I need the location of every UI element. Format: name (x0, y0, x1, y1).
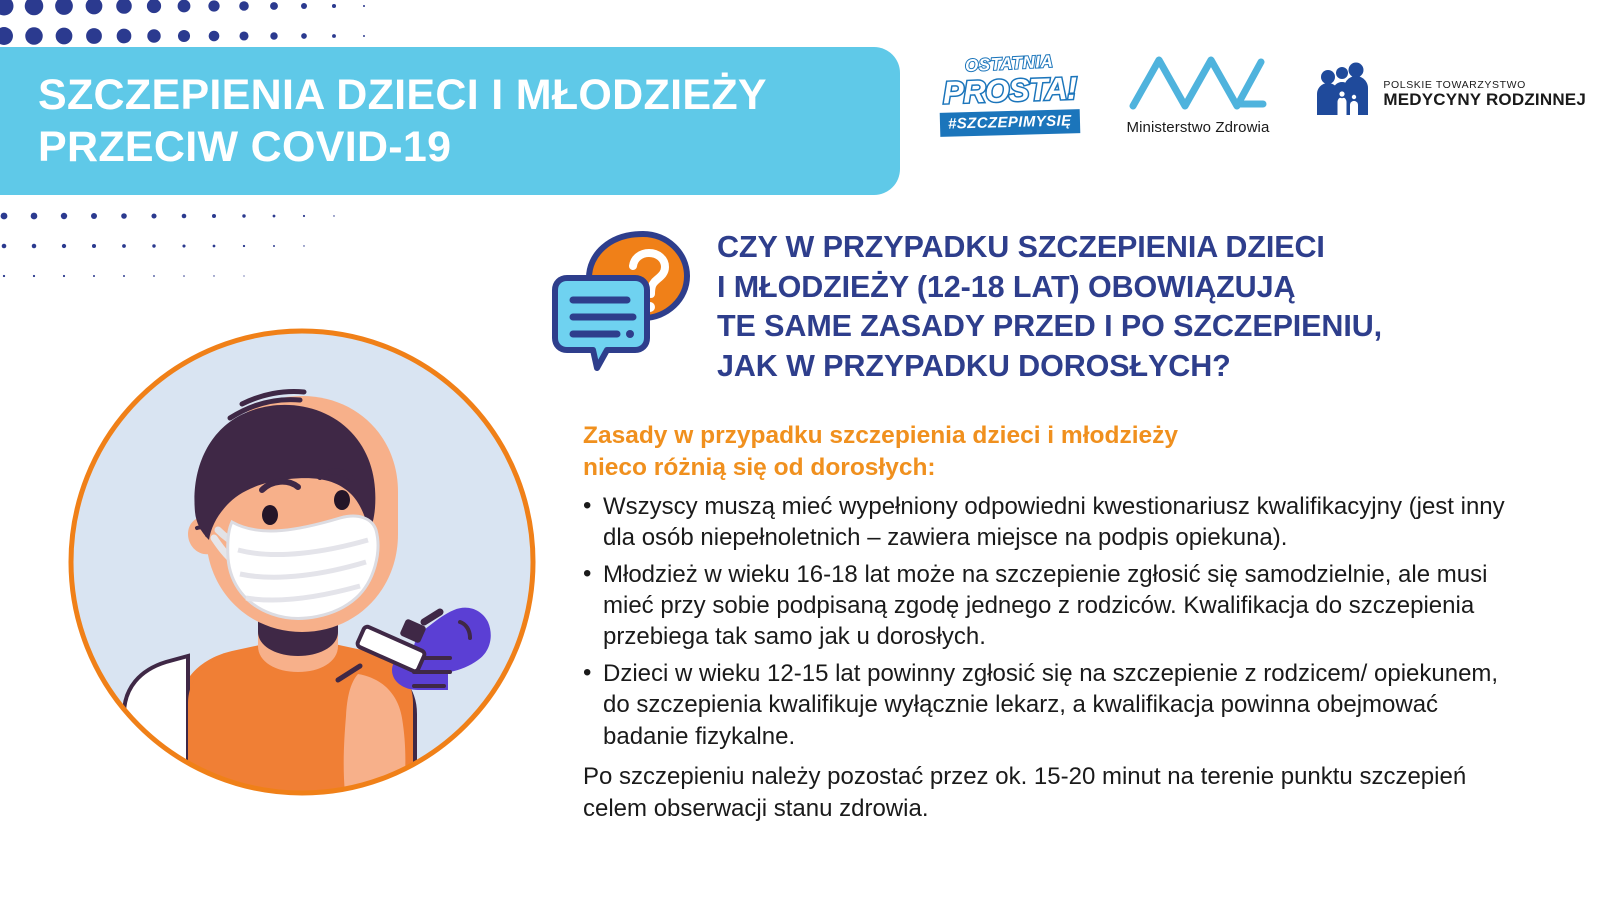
mz-monogram-icon (1129, 52, 1267, 115)
logo-ptmr: POLSKIE TOWARZYSTWO MEDYCYNY RODZINNEJ (1311, 61, 1586, 128)
mz-name: Ministerstwo Zdrowia (1127, 119, 1270, 136)
list-item: Młodzież w wieku 16-18 lat może na szcze… (583, 559, 1513, 653)
question-speech-bubble-icon (545, 226, 695, 376)
vaccination-illustration (62, 322, 542, 802)
list-item: Dzieci w wieku 12-15 lat powinny zgłosić… (583, 658, 1513, 752)
ptmr-line1: POLSKIE TOWARZYSTWO (1383, 80, 1586, 91)
outro-text: Po szczepieniu należy pozostać przez ok.… (583, 761, 1513, 824)
family-group-icon (1311, 61, 1373, 128)
answer-content: Zasady w przypadku szczepienia dzieci i … (583, 420, 1513, 824)
logo-ostatnia-hashtag: #SZCZEPIMYSIĘ (939, 109, 1079, 137)
logo-ostatnia-prosta: OSTATNIA PROSTA! #SZCZEPIMYSIĘ (935, 54, 1085, 135)
ptmr-text: POLSKIE TOWARZYSTWO MEDYCYNY RODZINNEJ (1383, 80, 1586, 109)
ptmr-line2: MEDYCYNY RODZINNEJ (1383, 91, 1586, 109)
logo-group: OSTATNIA PROSTA! #SZCZEPIMYSIĘ Ministers… (935, 52, 1586, 136)
page-title: SZCZEPIENIA DZIECI I MŁODZIEŻY PRZECIW C… (0, 69, 767, 174)
logo-ministerstwo-zdrowia: Ministerstwo Zdrowia (1127, 52, 1270, 136)
list-item: Wszyscy muszą mieć wypełniony odpowiedni… (583, 491, 1513, 554)
logo-ostatnia-line2: PROSTA! (942, 72, 1077, 108)
question-section: CZY W PRZYPADKU SZCZEPIENIA DZIECI I MŁO… (545, 222, 1585, 387)
question-heading: CZY W PRZYPADKU SZCZEPIENIA DZIECI I MŁO… (717, 222, 1382, 387)
header-band: SZCZEPIENIA DZIECI I MŁODZIEŻY PRZECIW C… (0, 47, 900, 195)
poster: SZCZEPIENIA DZIECI I MŁODZIEŻY PRZECIW C… (0, 0, 1600, 900)
lead-text: Zasady w przypadku szczepienia dzieci i … (583, 420, 1513, 484)
rules-list: Wszyscy muszą mieć wypełniony odpowiedni… (583, 491, 1513, 753)
